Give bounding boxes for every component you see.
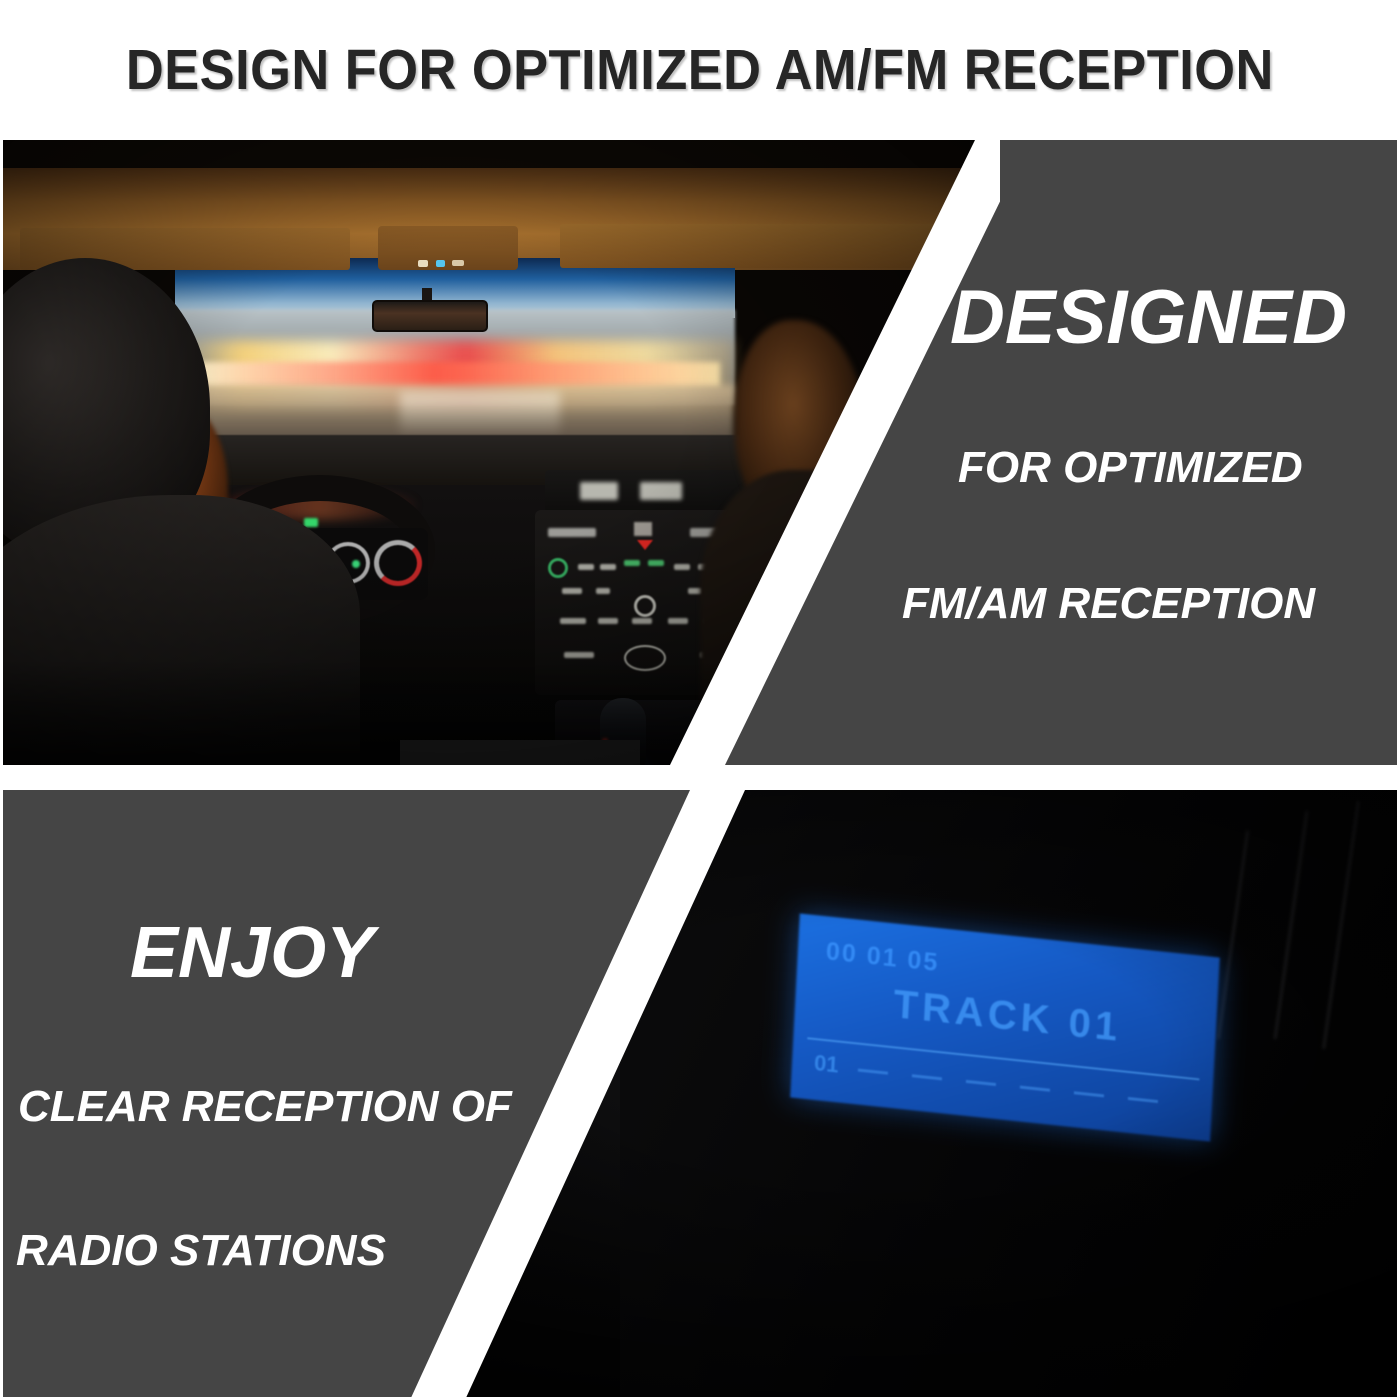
enjoy-subline-1: CLEAR RECEPTION OF bbox=[18, 1085, 670, 1129]
top-row: DESIGNED FOR OPTIMIZED FM/AM RECEPTION bbox=[0, 140, 1400, 765]
designed-callout-text: DESIGNED FOR OPTIMIZED FM/AM RECEPTION bbox=[950, 140, 1400, 765]
bottom-row: 00 01 05 TRACK 01 01 bbox=[0, 790, 1400, 1400]
page-title: DESIGN FOR OPTIMIZED AM/FM RECEPTION bbox=[126, 37, 1274, 103]
enjoy-headline: ENJOY bbox=[130, 917, 670, 989]
designed-subline-1: FOR OPTIMIZED bbox=[958, 446, 1400, 490]
designed-subline-2: FM/AM RECEPTION bbox=[902, 582, 1400, 626]
horizontal-divider bbox=[0, 765, 1400, 790]
frame-edge-top bbox=[0, 0, 1400, 3]
enjoy-callout-text: ENJOY CLEAR RECEPTION OF RADIO STATIONS bbox=[30, 790, 670, 1400]
infographic-root: DESIGN FOR OPTIMIZED AM/FM RECEPTION bbox=[0, 0, 1400, 1400]
enjoy-subline-2: RADIO STATIONS bbox=[16, 1229, 670, 1273]
frame-edge-left bbox=[0, 0, 3, 1400]
designed-headline: DESIGNED bbox=[950, 280, 1400, 356]
header-band: DESIGN FOR OPTIMIZED AM/FM RECEPTION bbox=[0, 0, 1400, 140]
